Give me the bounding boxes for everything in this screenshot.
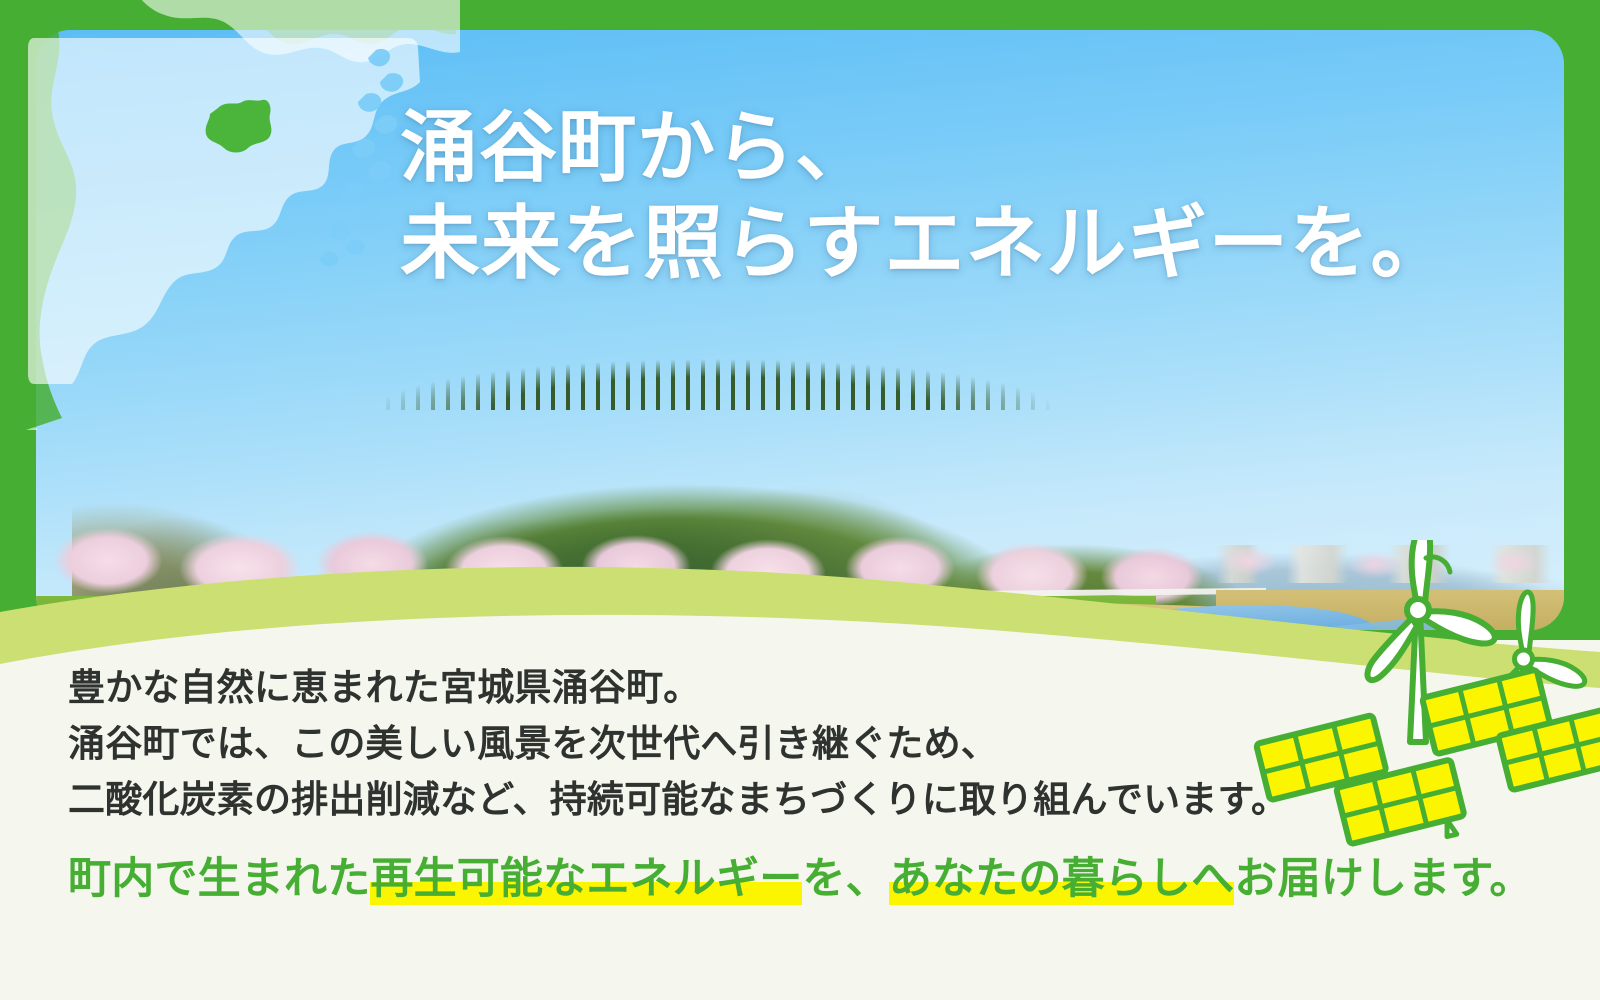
lead-seg-4: お届けします。 (1234, 855, 1532, 903)
solar-panel-icon (1498, 709, 1600, 806)
page-title: 涌谷町から、 未来を照らすエネルギーを。 (400, 100, 1451, 293)
lead-seg-3-highlight: あなたの暮らしへ (889, 855, 1235, 905)
headline-line-1: 涌谷町から、 (400, 100, 1451, 195)
body-line-2: 涌谷町では、この美しい風景を次世代へ引き継ぐため、 (68, 716, 1368, 772)
lead-seg-1-highlight: 再生可能なエネルギー (370, 855, 802, 905)
treeline (336, 350, 1126, 410)
lead-seg-0: 町内で生まれた (68, 855, 370, 903)
headline-line-2: 未来を照らすエネルギーを。 (400, 195, 1451, 293)
lead-statement: 町内で生まれた再生可能なエネルギーを、あなたの暮らしへお届けします。 (68, 851, 1368, 908)
hero-banner: 涌谷町から、 未来を照らすエネルギーを。 豊かな自然に恵まれた宮城県涌谷町。 涌… (0, 0, 1600, 1000)
body-line-3: 二酸化炭素の排出削減など、持続可能なまちづくりに取り組んでいます。 (68, 772, 1368, 828)
intro-copy: 豊かな自然に恵まれた宮城県涌谷町。 涌谷町では、この美しい風景を次世代へ引き継ぐ… (68, 660, 1368, 907)
lead-seg-2: を、 (802, 855, 888, 903)
body-line-1: 豊かな自然に恵まれた宮城県涌谷町。 (68, 660, 1368, 716)
